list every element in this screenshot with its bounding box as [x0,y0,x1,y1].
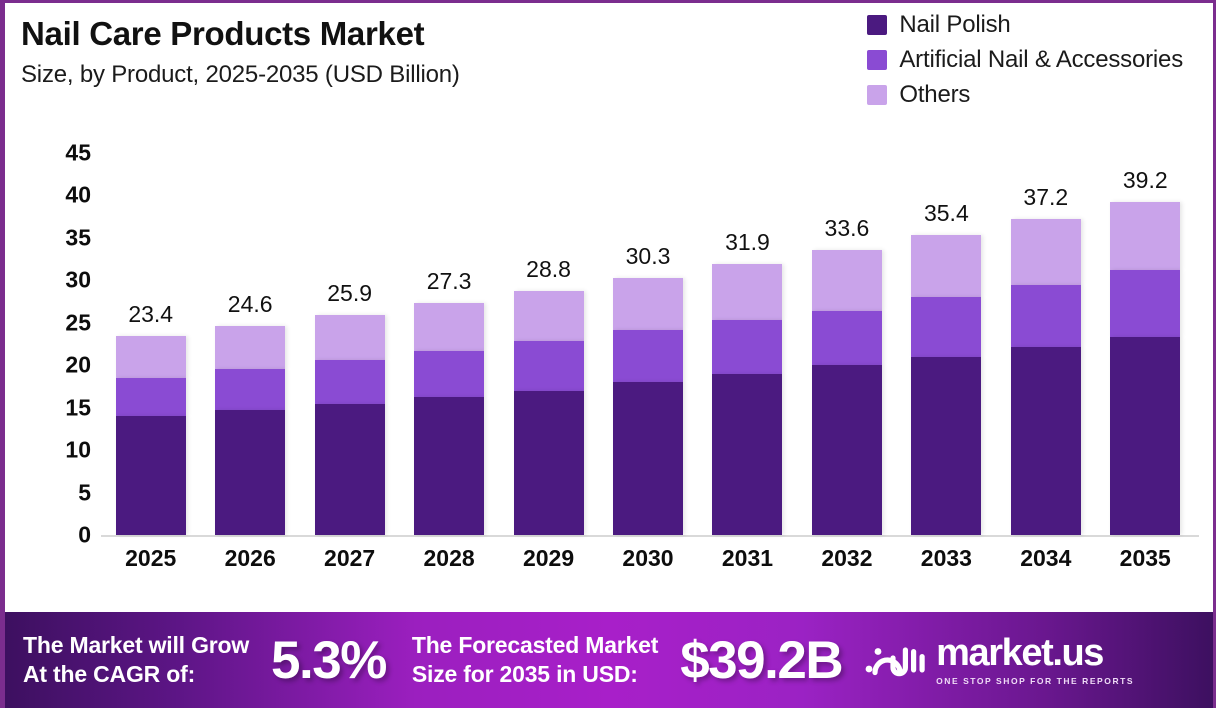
bar-segment-artificial-nail-accessories[interactable] [1011,285,1081,347]
bar-segment-artificial-nail-accessories[interactable] [1110,270,1180,337]
bar-segment-others[interactable] [1011,219,1081,284]
bar-segment-nail-polish[interactable] [514,391,584,535]
bar-total-label: 25.9 [327,280,372,307]
bar-segment-artificial-nail-accessories[interactable] [712,320,782,373]
y-axis: 051015202530354045 [39,153,91,535]
header: Nail Care Products Market Size, by Produ… [21,15,761,89]
cagr-value: 5.3% [271,630,386,691]
cagr-label: The Market will Grow At the CAGR of: [23,631,249,688]
chart-plot-area: 051015202530354045 23.424.625.927.328.83… [39,153,1199,598]
bar-total-label: 27.3 [427,268,472,295]
bar-group[interactable] [613,278,683,535]
bar-total-label: 31.9 [725,229,770,256]
bar-total-label: 35.4 [924,200,969,227]
bar-group[interactable] [1011,219,1081,535]
bar-segment-others[interactable] [414,303,484,351]
legend-item-nail-polish[interactable]: Nail Polish [867,11,1010,39]
bar-segment-artificial-nail-accessories[interactable] [613,330,683,383]
bar-group[interactable] [712,264,782,535]
forecast-label: The Forecasted Market Size for 2035 in U… [412,631,658,688]
x-axis-labels: 2025202620272028202920302031203220332034… [101,545,1195,585]
bar-group[interactable] [215,326,285,535]
bar-segment-nail-polish[interactable] [1110,337,1180,535]
infographic-root: Nail Care Products Market Size, by Produ… [0,0,1216,708]
bar-total-label: 23.4 [128,301,173,328]
bar-segment-others[interactable] [812,250,882,311]
y-axis-tick-label: 40 [39,182,91,209]
legend-item-artificial-nail-accessories[interactable]: Artificial Nail & Accessories [867,46,1183,74]
bar-group[interactable] [1110,202,1180,535]
y-axis-tick-label: 30 [39,267,91,294]
x-axis-label-2026: 2026 [225,545,276,572]
x-axis-label-2031: 2031 [722,545,773,572]
bar-segment-others[interactable] [911,235,981,298]
bar-total-label: 37.2 [1023,184,1068,211]
bar-segment-artificial-nail-accessories[interactable] [116,378,186,416]
brand-logo[interactable]: market.us ONE STOP SHOP FOR THE REPORTS [864,634,1134,686]
bar-group[interactable] [315,315,385,535]
bar-segment-artificial-nail-accessories[interactable] [215,369,285,411]
bar-group[interactable] [911,235,981,536]
y-axis-tick-label: 15 [39,394,91,421]
page-subtitle: Size, by Product, 2025-2035 (USD Billion… [21,61,761,89]
x-axis-label-2035: 2035 [1120,545,1171,572]
x-axis-label-2027: 2027 [324,545,375,572]
bar-total-label: 28.8 [526,256,571,283]
bar-segment-nail-polish[interactable] [712,374,782,535]
bar-segment-nail-polish[interactable] [215,410,285,535]
chart-legend: Nail PolishArtificial Nail & Accessories… [867,11,1183,109]
bar-total-label: 33.6 [825,215,870,242]
forecast-value: $39.2B [680,630,842,691]
bar-group[interactable] [812,250,882,535]
bar-segment-nail-polish[interactable] [1011,347,1081,535]
bar-group[interactable] [116,336,186,535]
bar-group[interactable] [514,291,584,535]
bar-segment-nail-polish[interactable] [116,416,186,535]
bar-total-label: 30.3 [626,243,671,270]
y-axis-tick-label: 0 [39,522,91,549]
legend-item-label: Others [899,81,970,109]
footer-banner: The Market will Grow At the CAGR of: 5.3… [5,612,1213,708]
bar-group[interactable] [414,303,484,535]
brand-words: market.us ONE STOP SHOP FOR THE REPORTS [936,634,1134,686]
bar-total-label: 39.2 [1123,167,1168,194]
y-axis-tick-label: 5 [39,479,91,506]
y-axis-tick-label: 10 [39,437,91,464]
y-axis-tick-label: 45 [39,140,91,167]
y-axis-tick-label: 25 [39,309,91,336]
y-axis-tick-label: 35 [39,224,91,251]
legend-item-others[interactable]: Others [867,81,970,109]
bar-segment-artificial-nail-accessories[interactable] [414,351,484,398]
x-axis-baseline [101,535,1199,537]
legend-item-label: Artificial Nail & Accessories [899,46,1183,74]
legend-swatch-icon [867,15,887,35]
bar-segment-nail-polish[interactable] [812,365,882,535]
bar-segment-others[interactable] [215,326,285,368]
market-us-logo-icon [864,638,926,683]
legend-swatch-icon [867,85,887,105]
bar-segment-others[interactable] [116,336,186,378]
bar-segment-nail-polish[interactable] [414,397,484,535]
x-axis-label-2025: 2025 [125,545,176,572]
brand-name: market.us [936,634,1103,672]
bar-total-label: 24.6 [228,291,273,318]
legend-item-label: Nail Polish [899,11,1010,39]
legend-swatch-icon [867,50,887,70]
bar-segment-nail-polish[interactable] [613,382,683,535]
x-axis-label-2028: 2028 [423,545,474,572]
x-axis-label-2033: 2033 [921,545,972,572]
x-axis-label-2029: 2029 [523,545,574,572]
bar-segment-others[interactable] [712,264,782,320]
bar-segment-artificial-nail-accessories[interactable] [812,311,882,365]
bar-segment-artificial-nail-accessories[interactable] [911,297,981,356]
bar-segment-nail-polish[interactable] [315,404,385,535]
x-axis-label-2030: 2030 [622,545,673,572]
bars-area: 23.424.625.927.328.830.331.933.635.437.2… [101,153,1195,535]
y-axis-tick-label: 20 [39,352,91,379]
x-axis-label-2034: 2034 [1020,545,1071,572]
x-axis-label-2032: 2032 [821,545,872,572]
bar-segment-artificial-nail-accessories[interactable] [315,360,385,404]
bar-segment-artificial-nail-accessories[interactable] [514,341,584,390]
bar-segment-others[interactable] [315,315,385,360]
brand-tagline: ONE STOP SHOP FOR THE REPORTS [936,676,1134,686]
bar-segment-others[interactable] [514,291,584,342]
bar-segment-others[interactable] [613,278,683,330]
bar-segment-others[interactable] [1110,202,1180,270]
bar-segment-nail-polish[interactable] [911,357,981,535]
page-title: Nail Care Products Market [21,15,761,54]
